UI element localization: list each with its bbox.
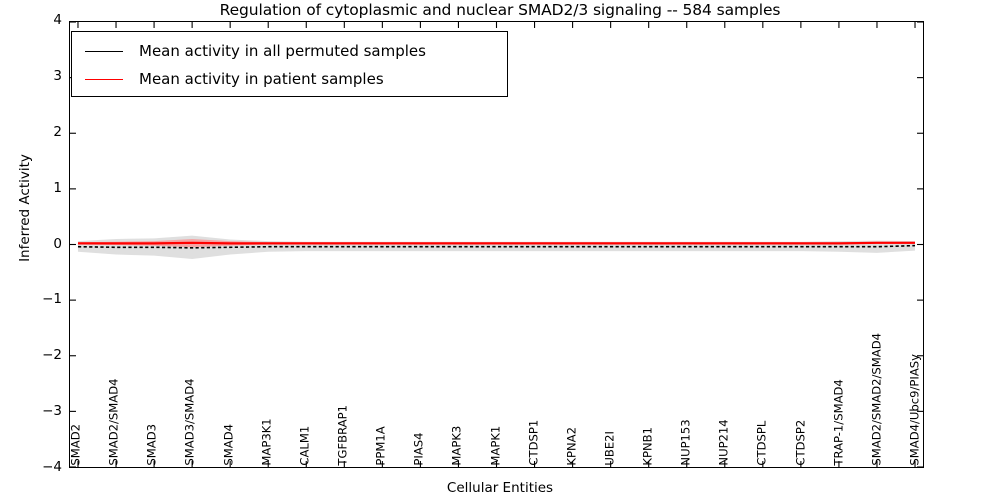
chart-figure: Regulation of cytoplasmic and nuclear SM…	[0, 0, 1000, 500]
legend-swatch-patient	[85, 79, 123, 80]
y-tick-label: −3	[18, 405, 62, 419]
y-tick-label: 4	[18, 14, 62, 28]
legend-item-patient: Mean activity in patient samples	[72, 65, 507, 93]
data-series-line	[78, 243, 915, 244]
legend-label-permuted: Mean activity in all permuted samples	[139, 42, 426, 60]
y-tick-label: −2	[18, 349, 62, 363]
chart-title: Regulation of cytoplasmic and nuclear SM…	[0, 1, 1000, 19]
y-tick-label: −4	[18, 461, 62, 475]
chart-legend: Mean activity in all permuted samples Me…	[71, 31, 508, 97]
legend-item-permuted: Mean activity in all permuted samples	[72, 37, 507, 65]
y-tick-label: 3	[18, 70, 62, 84]
y-axis-label: Inferred Activity	[17, 88, 33, 328]
legend-swatch-permuted	[85, 51, 123, 52]
x-axis-label: Cellular Entities	[0, 480, 1000, 496]
legend-label-patient: Mean activity in patient samples	[139, 70, 384, 88]
